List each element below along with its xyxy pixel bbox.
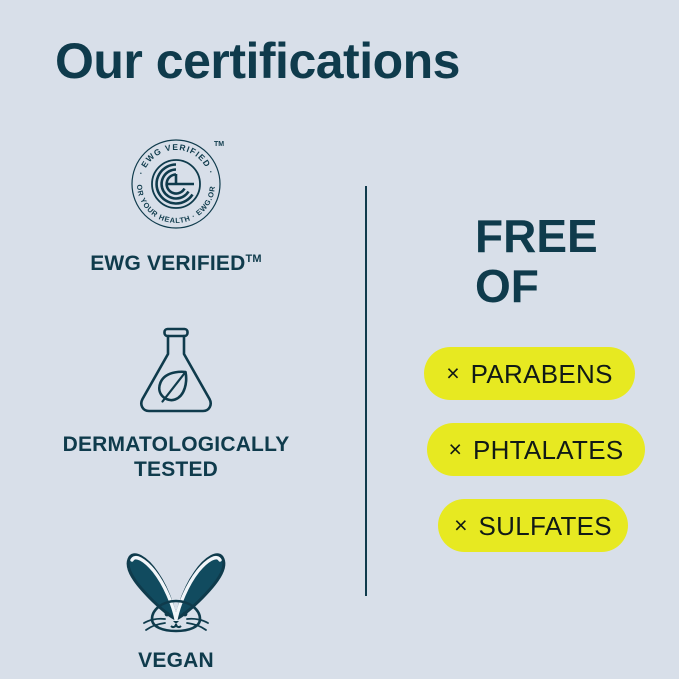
free-of-pill-phtalates: × PHTALATES [427,423,645,476]
certification-label-dermatologically-tested: DERMATOLOGICALLY TESTED [0,432,352,483]
free-of-section: FREE OF × PARABENS × PHTALATES × SULFATE… [420,212,679,552]
free-of-pill-label: PHTALATES [473,437,624,463]
page-title: Our certifications [55,33,460,91]
free-of-title: FREE OF [420,212,679,311]
ewg-verified-badge-icon: · EWG VERIFIED · · FOR YOUR HEALTH · EWG… [0,128,352,241]
certification-label-ewg: EWG VERIFIEDTM [0,251,352,277]
certifications-list: · EWG VERIFIED · · FOR YOUR HEALTH · EWG… [0,128,352,673]
rabbit-heart-ears-icon [0,527,352,638]
free-of-pill-label: PARABENS [471,361,613,387]
flask-leaf-icon [0,325,352,422]
free-of-title-line1: FREE [475,210,598,262]
trademark-symbol: TM [245,253,261,265]
free-of-list: × PARABENS × PHTALATES × SULFATES [420,347,679,552]
svg-text:TM: TM [214,141,224,148]
cross-icon: × [454,514,467,537]
free-of-pill-sulfates: × SULFATES [438,499,628,552]
free-of-title-line2: OF [475,262,679,312]
free-of-pill-label: SULFATES [479,513,612,539]
cross-icon: × [449,438,462,461]
cross-icon: × [446,362,459,385]
certification-item-dermatologically-tested: DERMATOLOGICALLY TESTED [0,325,352,483]
certification-item-vegan: VEGAN [0,527,352,674]
certification-label-line1: DERMATOLOGICALLY [0,432,352,458]
free-of-pill-parabens: × PARABENS [424,347,635,400]
certification-label-line2: TESTED [0,457,352,483]
certification-item-ewg: · EWG VERIFIED · · FOR YOUR HEALTH · EWG… [0,128,352,277]
certification-label-vegan: VEGAN [0,648,352,674]
certification-label-ewg-text: EWG VERIFIED [90,252,245,275]
certifications-page: Our certifications · EWG VERIFIED · [0,0,679,679]
vertical-divider [365,186,367,596]
